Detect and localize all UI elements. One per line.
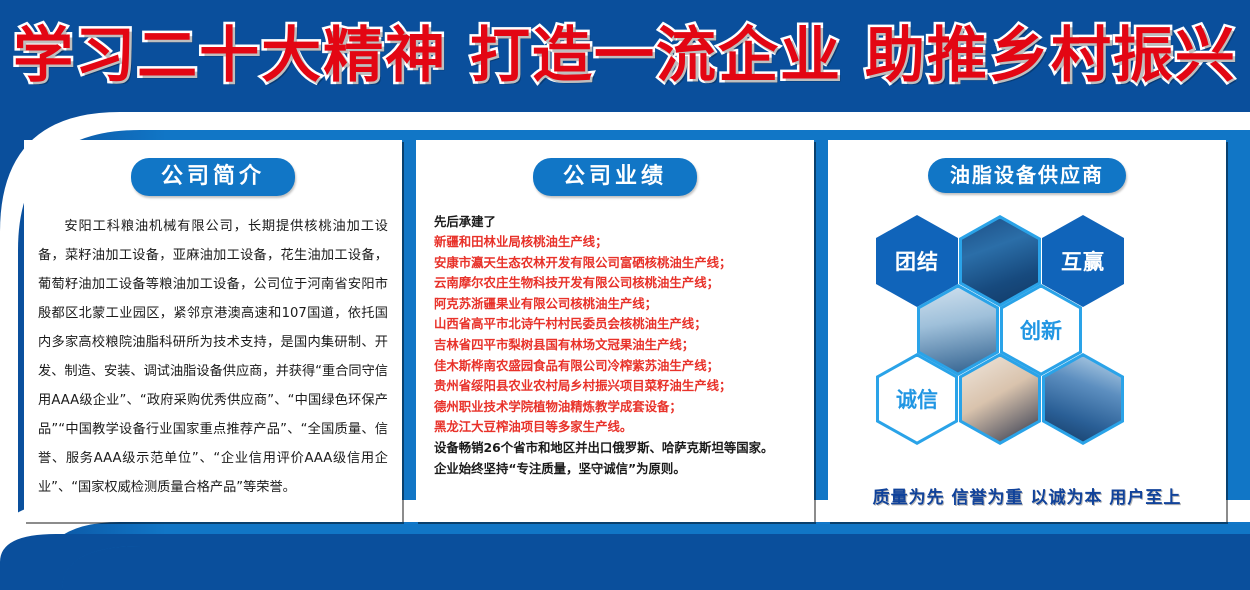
performance-project-item: 贵州省绥阳县农业农村局乡村振兴项目菜籽油生产线； (434, 376, 814, 397)
intro-badge-title: 公司简介 (131, 158, 295, 196)
supplier-slogan: 质量为先 信誉为重 以诚为本 用户至上 (828, 483, 1226, 508)
intro-body-text: 安阳工科粮油机械有限公司，长期提供核桃油加工设备，菜籽油加工设备，亚麻油加工设备… (38, 212, 388, 502)
banner-title: 学习二十大精神 打造一流企业 助推乡村振兴 (13, 26, 1237, 86)
panel-supplier: 油脂设备供应商 团结互赢创新诚信 质量为先 信誉为重 以诚为本 用户至上 (828, 140, 1226, 522)
panel-row: 公司简介 安阳工科粮油机械有限公司，长期提供核桃油加工设备，菜籽油加工设备，亚麻… (24, 140, 1226, 522)
performance-project-item: 山西省高平市北诗午村村民委员会核桃油生产线； (434, 314, 814, 335)
performance-project-list: 新疆和田林业局核桃油生产线；安康市瀛天生态农林开发有限公司富硒核桃油生产线；云南… (434, 232, 814, 438)
performance-project-item: 黑龙江大豆榨油项目等多家生产线。 (434, 417, 814, 438)
performance-lead: 先后承建了 (434, 212, 814, 233)
performance-project-item: 阿克苏浙疆果业有限公司核桃油生产线； (434, 294, 814, 315)
aircraft-carrier-photo-icon (962, 219, 1038, 304)
performance-project-item: 吉林省四平市梨树县国有林场文冠果油生产线； (434, 335, 814, 356)
performance-list: 先后承建了 新疆和田林业局核桃油生产线；安康市瀛天生态农林开发有限公司富硒核桃油… (434, 212, 814, 480)
hex-chengxin: 诚信 (879, 357, 955, 442)
performance-project-item: 新疆和田林业局核桃油生产线； (434, 232, 814, 253)
performance-badge-title: 公司业绩 (533, 158, 697, 196)
supplier-badge-title: 油脂设备供应商 (928, 158, 1126, 193)
skyscraper-photo-icon (1045, 357, 1121, 442)
panel-company-performance: 公司业绩 先后承建了 新疆和田林业局核桃油生产线；安康市瀛天生态农林开发有限公司… (416, 140, 814, 522)
handshake-photo-icon (962, 357, 1038, 442)
airplane-success-photo-icon (920, 288, 996, 373)
performance-project-item: 安康市瀛天生态农林开发有限公司富硒核桃油生产线； (434, 253, 814, 274)
hex-chuangxin: 创新 (1003, 288, 1079, 373)
performance-footer: 设备畅销26个省市和地区并出口俄罗斯、哈萨克斯坦等国家。企业始终坚持“专注质量，… (434, 438, 814, 479)
performance-project-item: 佳木斯桦南农盛园食品有限公司冷榨紫苏油生产线； (434, 356, 814, 377)
hexagon-cluster: 团结互赢创新诚信 (828, 207, 1226, 465)
panel-company-intro: 公司简介 安阳工科粮油机械有限公司，长期提供核桃油加工设备，菜籽油加工设备，亚麻… (24, 140, 402, 522)
banner: 学习二十大精神 打造一流企业 助推乡村振兴 (0, 0, 1250, 112)
performance-project-item: 德州职业技术学院植物油精炼教学成套设备； (434, 397, 814, 418)
performance-footer-line: 设备畅销26个省市和地区并出口俄罗斯、哈萨克斯坦等国家。 (434, 438, 814, 459)
performance-footer-line: 企业始终坚持“专注质量，坚守诚信”为原则。 (434, 459, 814, 480)
intro-badge-wrap: 公司简介 (24, 158, 402, 196)
performance-badge-wrap: 公司业绩 (416, 158, 814, 196)
supplier-badge-wrap: 油脂设备供应商 (828, 158, 1226, 193)
performance-project-item: 云南摩尔农庄生物科技开发有限公司核桃油生产线； (434, 273, 814, 294)
